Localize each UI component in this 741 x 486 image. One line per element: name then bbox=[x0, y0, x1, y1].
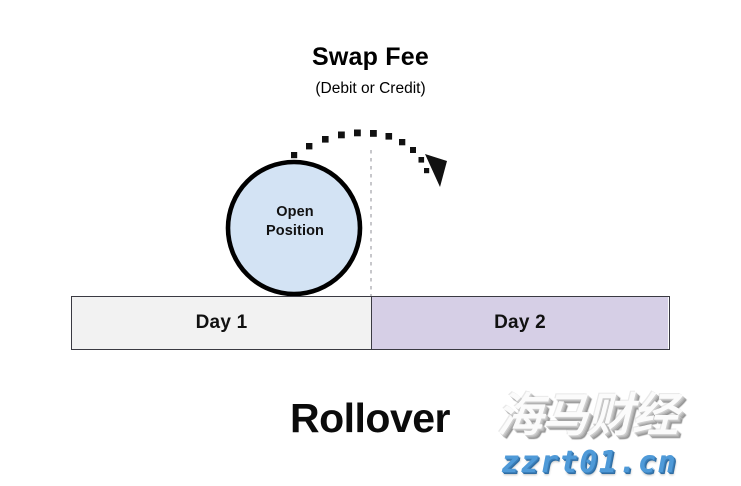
diagram-canvas: Swap Fee (Debit or Credit) Open Position bbox=[0, 0, 741, 486]
timeline-segment-day-2: Day 2 bbox=[372, 297, 668, 349]
timeline-segment-day-1: Day 1 bbox=[72, 297, 372, 349]
rollover-caption: Rollover bbox=[170, 398, 570, 439]
timeline-bar: Day 1 Day 2 bbox=[71, 296, 670, 350]
open-position-circle bbox=[228, 162, 360, 294]
